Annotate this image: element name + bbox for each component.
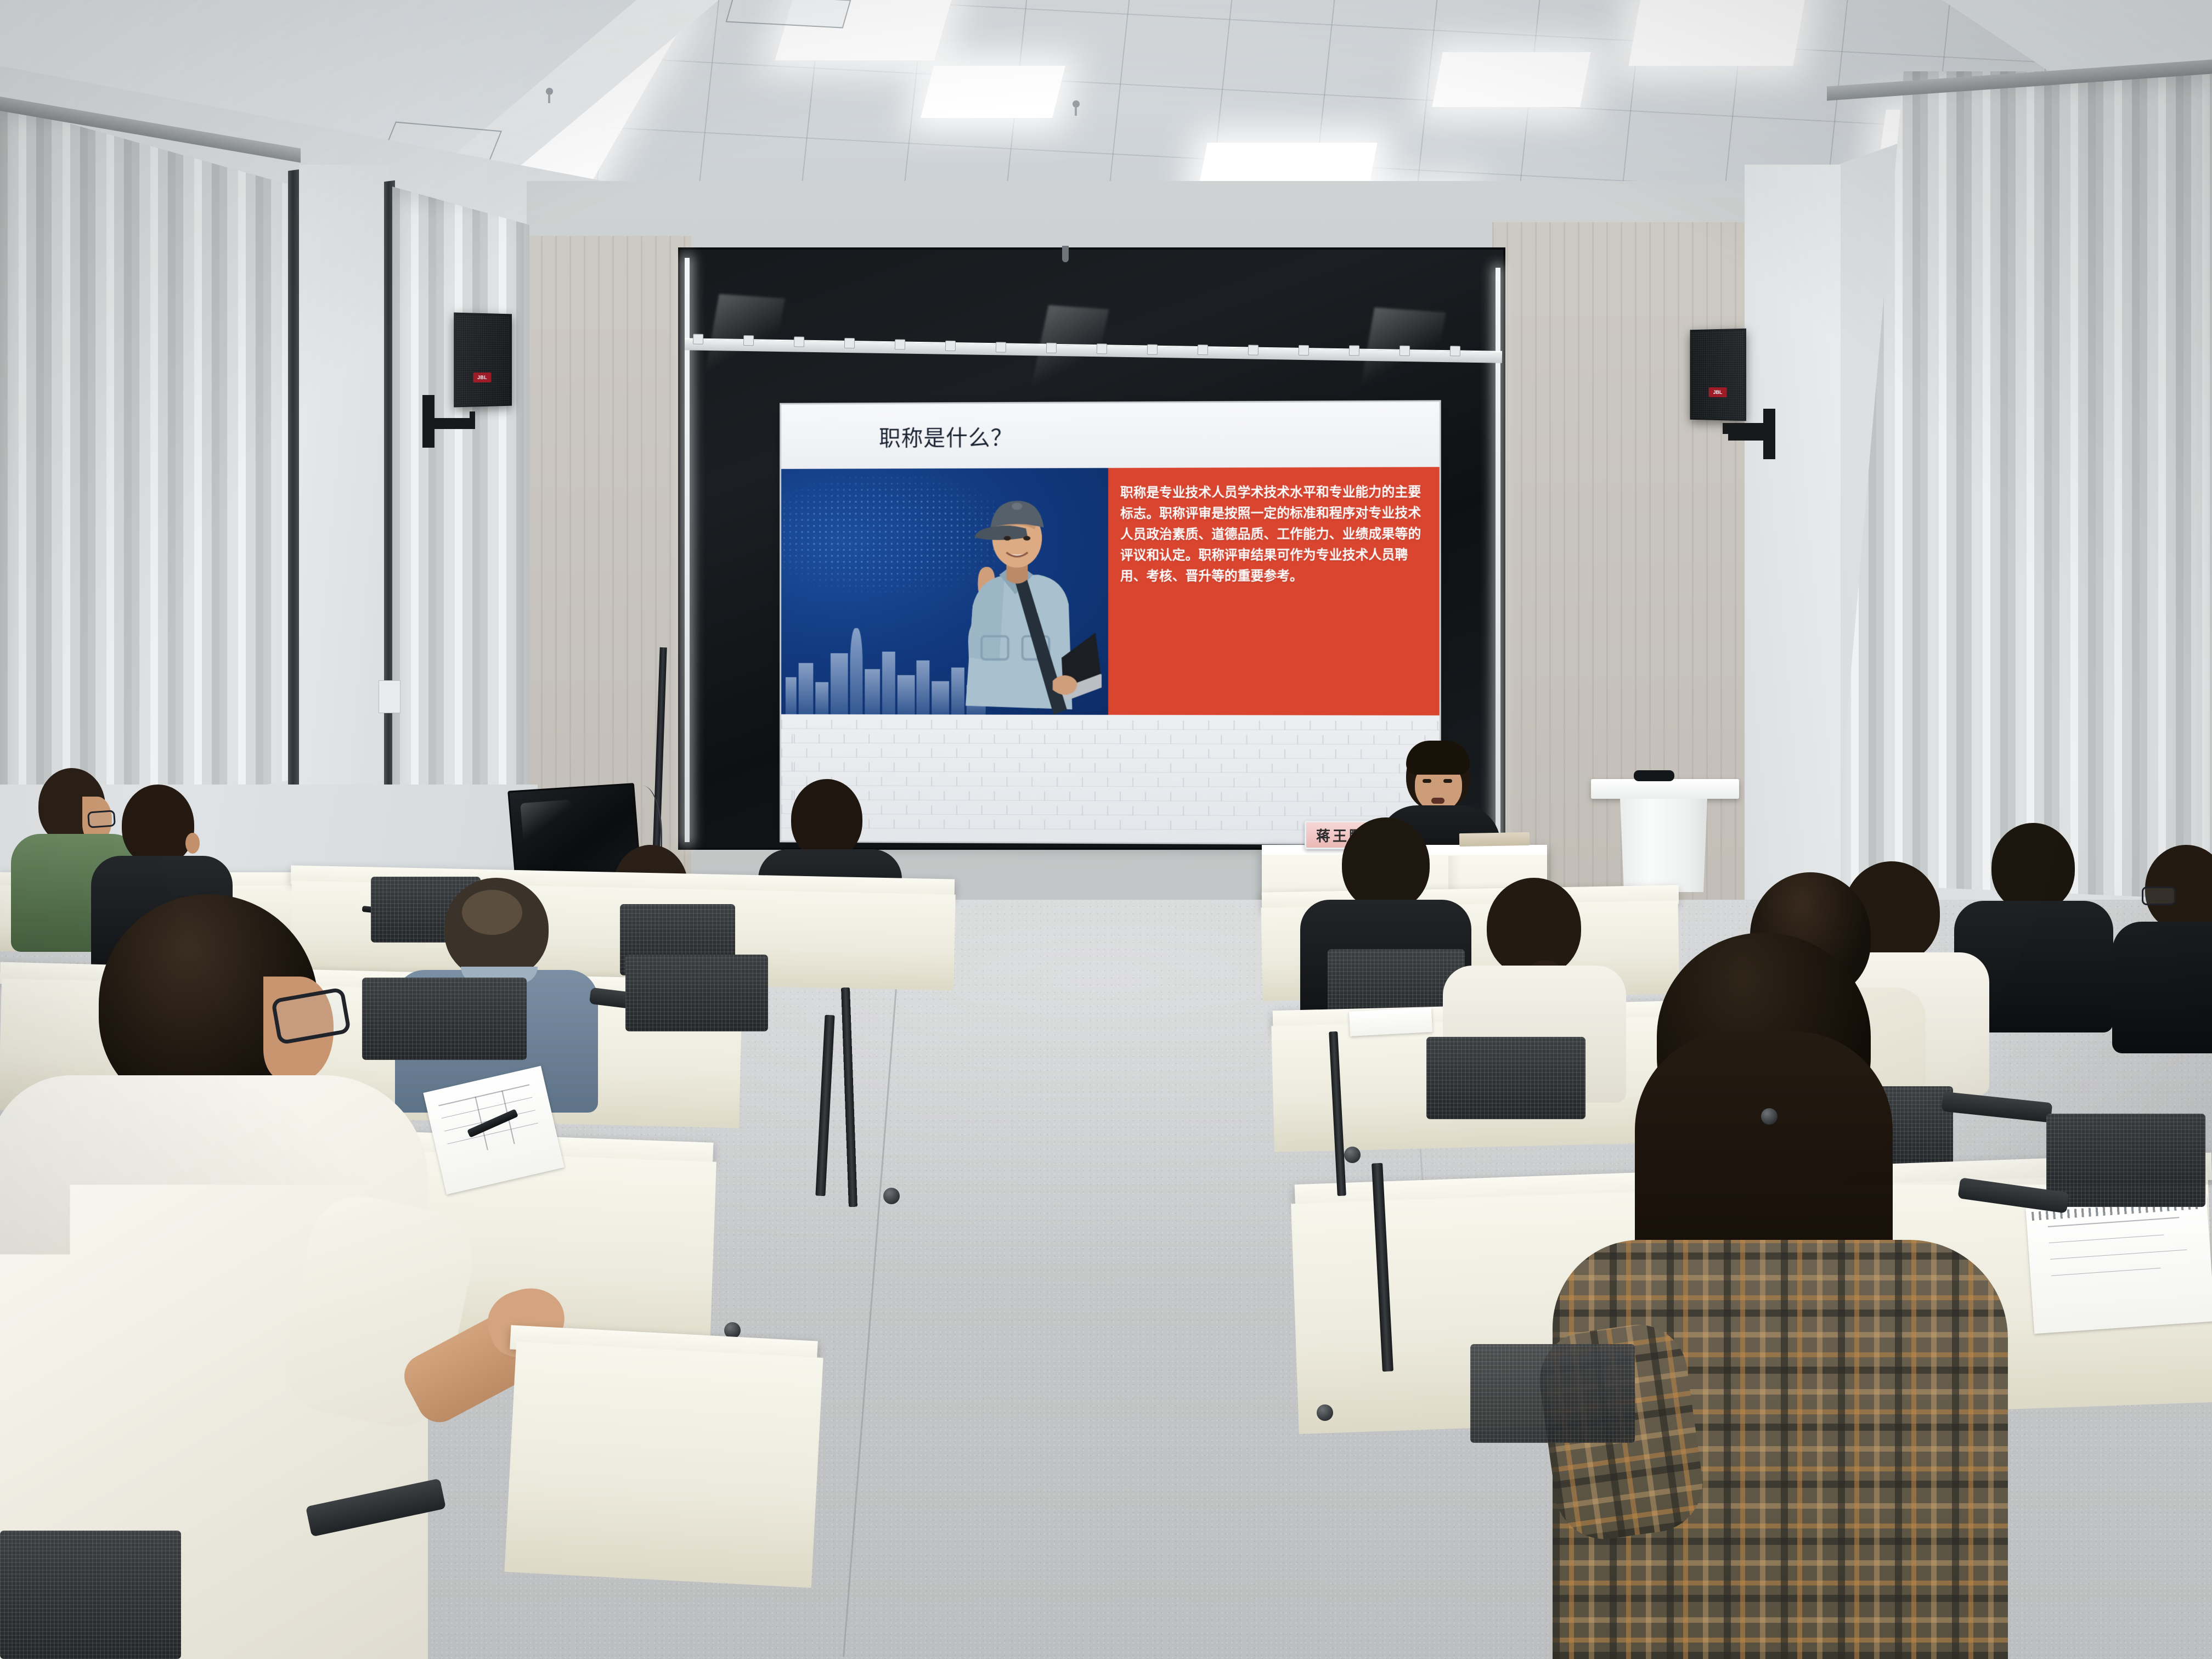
presenter-hair-front [1406, 741, 1470, 775]
track-clip [996, 342, 1006, 352]
attendee-torso [2112, 922, 2212, 1053]
curtain-left-far [0, 104, 296, 834]
presenter-eye-right [1443, 779, 1452, 783]
track-clip [1097, 343, 1107, 354]
desk-caster-right-a [1317, 1404, 1333, 1421]
desk-paper-right-row2 [1349, 1007, 1432, 1036]
track-clip [1349, 345, 1359, 356]
chair-right-row3 [2046, 1114, 2205, 1207]
track-clip [945, 341, 956, 351]
wall-pillar-left [299, 165, 390, 812]
presenter-mouth [1431, 798, 1444, 804]
slide-title: 职称是什么？ [879, 420, 1013, 453]
ceiling-light-5 [1432, 52, 1590, 107]
ceiling-hook [1062, 246, 1069, 262]
track-clip [1046, 343, 1057, 353]
curtain-left-near [392, 187, 529, 823]
desk-right-front-skirt [1411, 1420, 2212, 1659]
jbl-logo-badge-right: JBL [1709, 387, 1727, 397]
sprinkler-head-1 [546, 88, 553, 95]
worker-photo-illustration [912, 483, 1102, 715]
track-clip [1198, 345, 1208, 355]
window-mullion-left-1 [288, 169, 300, 796]
desk-caster-right-c [1761, 1108, 1778, 1125]
sprinkler-head-2 [1073, 100, 1080, 108]
speaker-left: JBL [454, 313, 512, 408]
speaker-grille-texture-right [1691, 330, 1745, 419]
slide-body: 职称是专业技术人员学术技术水平和专业能力的主要标志。职称评审是按照一定的标准和程… [781, 467, 1440, 715]
ceiling-light-3 [1629, 0, 1806, 66]
desk-center-left-front-skirt [504, 1342, 823, 1588]
track-clip [1147, 345, 1158, 355]
slide-photo [781, 468, 1108, 715]
track-clip [844, 338, 855, 348]
track-clip [794, 336, 804, 347]
monitor-glare [520, 800, 574, 843]
wall-switch-plate [379, 680, 400, 713]
desk-caster-right-b [1344, 1147, 1361, 1163]
meeting-room-photo: JBL JBL 职称是什么？ [0, 0, 2212, 1659]
podium-mic [1634, 770, 1674, 781]
speaker-grille-texture-left [455, 314, 510, 406]
projection-screen: 职称是什么？ [781, 402, 1440, 843]
chair-foreground-left [0, 1531, 181, 1659]
presenter-eye-left [1423, 779, 1431, 783]
attendee-right-edge [2123, 845, 2212, 1026]
track-clip [1450, 346, 1460, 356]
attendee-head [122, 785, 194, 866]
chair-left-row4 [625, 955, 768, 1031]
slide-text-panel: 职称是专业技术人员学术技术水平和专业能力的主要标志。职称评审是按照一定的标准和程… [1108, 467, 1440, 715]
speaker-right: JBL [1690, 329, 1746, 421]
slide-title-bar: 职称是什么？ [781, 402, 1440, 469]
track-clip [693, 334, 703, 345]
attendee-head [1991, 823, 2075, 912]
track-clip [1299, 345, 1309, 356]
track-clip [743, 335, 754, 346]
attendee-head [791, 779, 862, 859]
attendee-ear [185, 833, 200, 854]
track-clip [1248, 345, 1259, 355]
attendee-head [1342, 817, 1430, 911]
wall-right-panel [1745, 165, 1841, 900]
jbl-logo-badge-left: JBL [473, 373, 492, 382]
track-clip [1400, 346, 1410, 356]
desk-caster-left-b [883, 1188, 900, 1204]
glasses-icon [2142, 887, 2176, 905]
track-clip [895, 339, 905, 349]
ceiling-light-2 [921, 66, 1065, 118]
presenter-notes-paper [1459, 832, 1530, 847]
podium-top [1591, 779, 1739, 799]
